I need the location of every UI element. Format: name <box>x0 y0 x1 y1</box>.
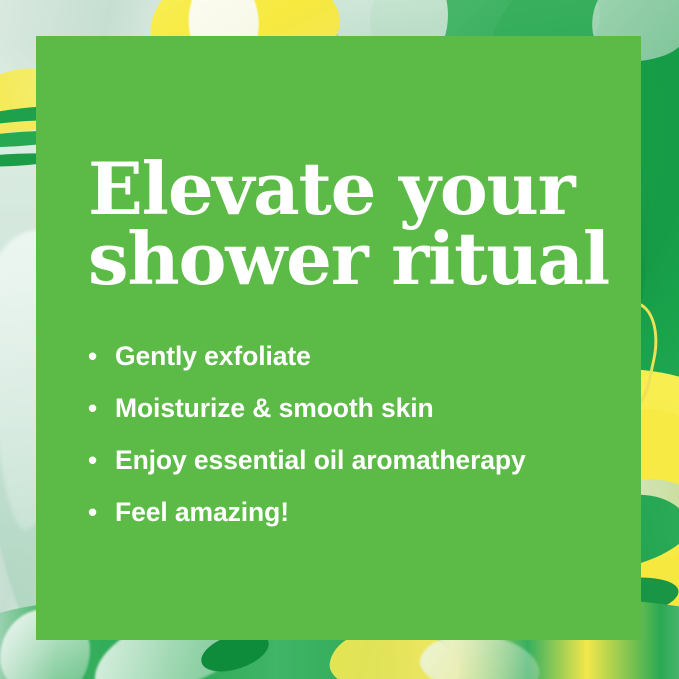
bullet-icon: • <box>88 434 115 486</box>
bullet-icon: • <box>88 382 115 434</box>
benefits-list: • Gently exfoliate • Moisturize & smooth… <box>88 330 618 538</box>
promo-image: Elevate your shower ritual • Gently exfo… <box>0 0 679 679</box>
benefit-label: Feel amazing! <box>115 486 289 538</box>
benefit-label: Enjoy essential oil aromatherapy <box>115 434 526 486</box>
benefit-label: Gently exfoliate <box>115 330 311 382</box>
headline-line-1: Elevate your <box>88 154 608 224</box>
page-title: Elevate your shower ritual <box>88 154 608 294</box>
bullet-icon: • <box>88 486 115 538</box>
benefit-label: Moisturize & smooth skin <box>115 382 434 434</box>
headline-line-2: shower ritual <box>88 224 608 294</box>
list-item: • Gently exfoliate <box>88 330 618 382</box>
list-item: • Moisturize & smooth skin <box>88 382 618 434</box>
bullet-icon: • <box>88 330 115 382</box>
green-content-card: Elevate your shower ritual • Gently exfo… <box>36 36 641 640</box>
list-item: • Feel amazing! <box>88 486 618 538</box>
list-item: • Enjoy essential oil aromatherapy <box>88 434 618 486</box>
